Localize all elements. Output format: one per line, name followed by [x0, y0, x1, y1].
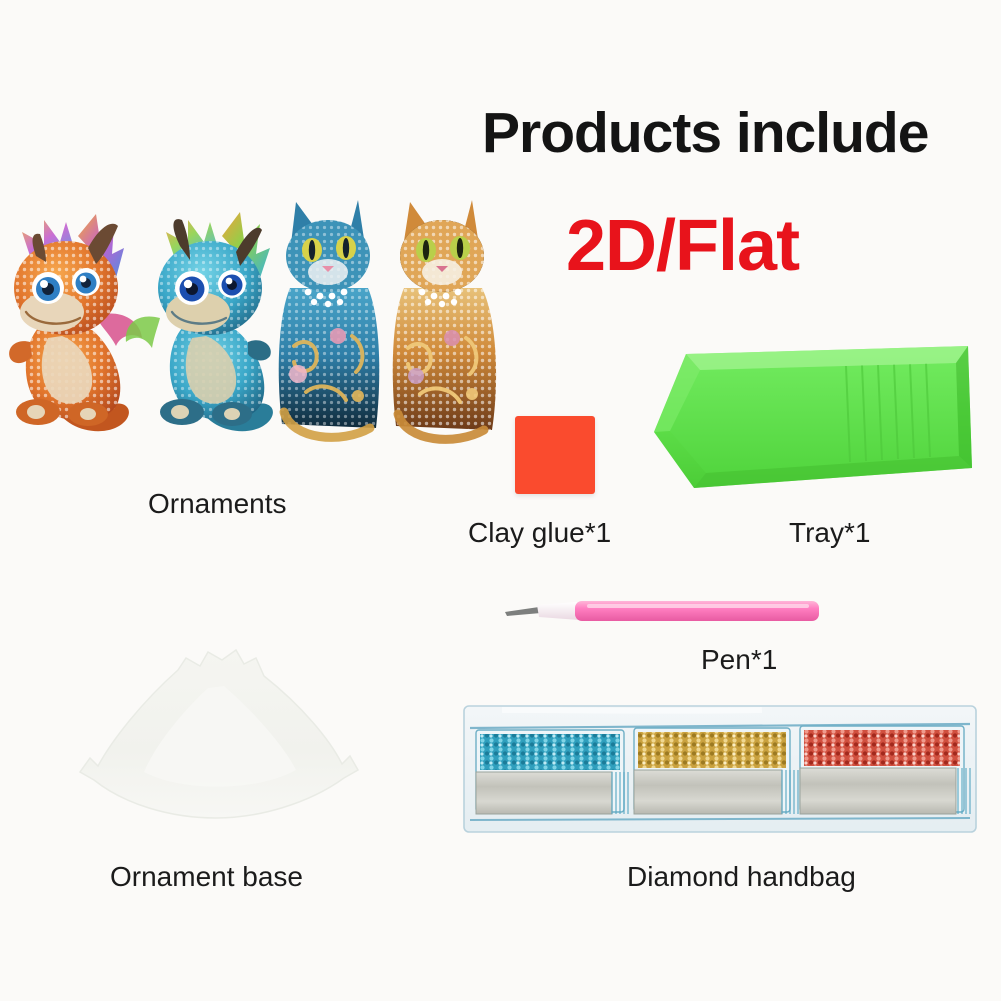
- orange-cat-ornament: [393, 200, 496, 439]
- clay-glue-icon: [515, 416, 595, 494]
- ornaments-caption: Ornaments: [148, 488, 287, 520]
- product-mode-title: 2D/Flat: [566, 205, 799, 287]
- orange-dragon-ornament: [9, 214, 142, 431]
- ornament-base-caption: Ornament base: [110, 861, 303, 893]
- page-title: Products include: [482, 100, 928, 166]
- clay-glue-caption: Clay glue*1: [468, 517, 611, 549]
- ornaments-icon: [0, 196, 510, 446]
- drill-pouch-teal: [476, 730, 624, 814]
- pen-icon: [503, 593, 821, 629]
- drill-pouch-gold: [634, 728, 790, 814]
- blue-dragon-ornament: [126, 212, 273, 431]
- drill-pouch-red: [800, 726, 964, 814]
- ornament-base-icon: [58, 636, 388, 826]
- diamond-handbag-caption: Diamond handbag: [627, 861, 856, 893]
- blue-cat-ornament: [279, 200, 380, 437]
- pen-caption: Pen*1: [701, 644, 777, 676]
- tray-caption: Tray*1: [789, 517, 870, 549]
- product-info-image: Products include 2D/Flat: [0, 0, 1001, 1001]
- diamond-handbag-icon: [462, 702, 978, 837]
- clay-glue-square: [515, 416, 595, 494]
- tray-icon: [650, 336, 975, 498]
